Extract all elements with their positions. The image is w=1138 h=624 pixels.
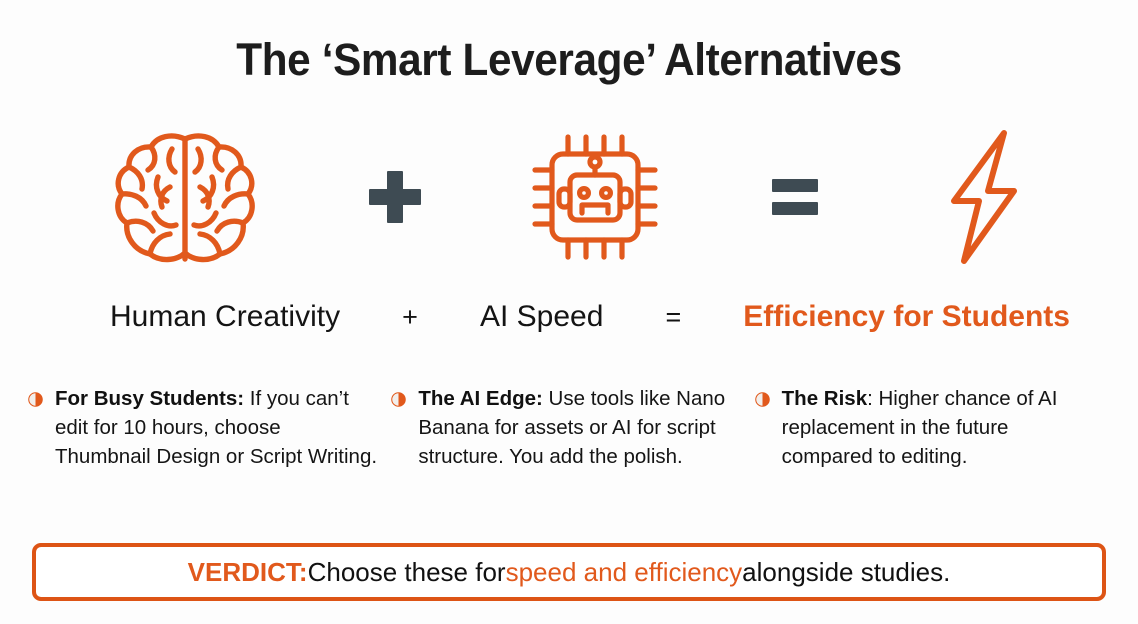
bullet-lead: The Risk [782, 387, 867, 410]
bullet-text: The AI Edge: Use tools like Nano Banana … [418, 384, 740, 471]
bullet-text: The Risk: Higher chance of AI replacemen… [782, 384, 1104, 471]
bullet-columns: For Busy Students: If you can’t edit for… [28, 384, 1118, 471]
bullet-lead: The AI Edge: [418, 387, 543, 410]
half-circle-bullet-icon [755, 392, 770, 407]
half-circle-bullet-icon [28, 392, 43, 407]
lightning-bolt-icon [930, 127, 1030, 267]
equation-icon-row [110, 124, 1030, 269]
plus-operator [360, 162, 430, 232]
verdict-banner: VERDICT: Choose these for speed and effi… [32, 543, 1106, 601]
lightning-icon-cell [930, 127, 1030, 267]
equals-icon [772, 179, 818, 215]
caption-plus-operator: + [402, 302, 418, 333]
plus-icon [369, 171, 421, 223]
bullet-lead: For Busy Students: [55, 387, 244, 410]
verdict-text-part2: alongside studies. [742, 557, 950, 588]
equation-caption-row: Human Creativity + AI Speed = Efficiency… [110, 294, 1070, 340]
verdict-accent-text: speed and efficiency [506, 557, 743, 588]
caption-efficiency-for-students: Efficiency for Students [743, 300, 1070, 334]
verdict-label: VERDICT: [188, 557, 308, 588]
brain-icon [110, 127, 260, 267]
caption-equals-operator: = [665, 302, 681, 333]
caption-ai-speed: AI Speed [480, 300, 603, 334]
equals-operator [760, 162, 830, 232]
caption-human-creativity: Human Creativity [110, 300, 340, 334]
bullet-item-busy-students: For Busy Students: If you can’t edit for… [28, 384, 391, 471]
bullet-item-the-risk: The Risk: Higher chance of AI replacemen… [755, 384, 1118, 471]
ai-chip-icon-cell [530, 129, 660, 264]
verdict-text-part1: Choose these for [308, 557, 506, 588]
page-title: The ‘Smart Leverage’ Alternatives [34, 34, 1104, 86]
ai-chip-robot-icon [530, 129, 660, 264]
bullet-item-ai-edge: The AI Edge: Use tools like Nano Banana … [391, 384, 754, 471]
bullet-text: For Busy Students: If you can’t edit for… [55, 384, 377, 471]
brain-icon-cell [110, 127, 260, 267]
infographic-slide: The ‘Smart Leverage’ Alternatives [0, 0, 1138, 624]
half-circle-bullet-icon [391, 392, 406, 407]
